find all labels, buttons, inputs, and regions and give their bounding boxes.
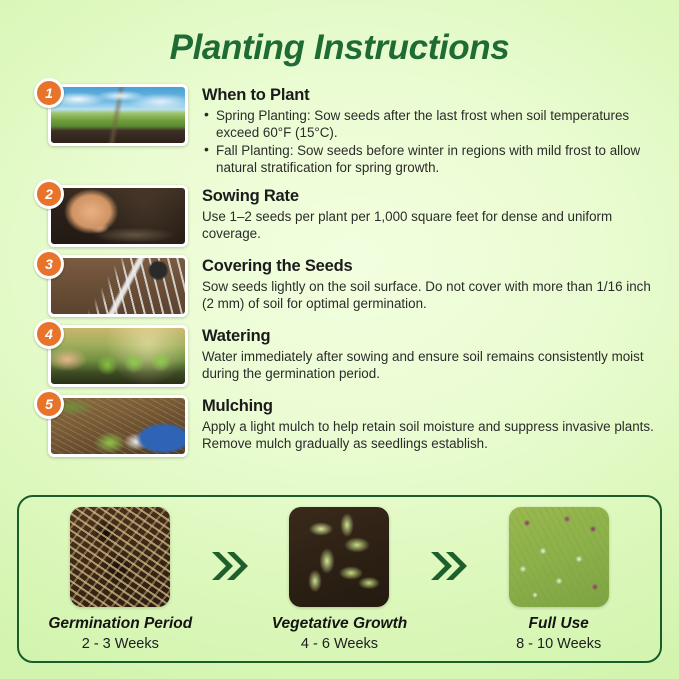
mulching-seedling-photo — [48, 395, 188, 457]
timeline-stage-1-weeks: 2 - 3 Weeks — [82, 636, 159, 652]
step-2-text: Use 1–2 seeds per plant per 1,000 square… — [202, 208, 659, 242]
step-5-text: Apply a light mulch to help retain soil … — [202, 418, 659, 452]
timeline-stage-3-weeks: 8 - 10 Weeks — [516, 636, 601, 652]
step-3-thumb-wrap: 3 — [34, 255, 190, 317]
step-number-badge-2: 2 — [34, 179, 64, 209]
double-chevron-right-icon — [209, 549, 251, 583]
step-number-badge-1: 1 — [34, 78, 64, 108]
timeline-stage-1-label: Germination Period — [48, 615, 192, 633]
step-item-4: 4 Watering Water immediately after sowin… — [34, 325, 659, 387]
watering-seedlings-photo — [48, 325, 188, 387]
step-5-body: Mulching Apply a light mulch to help ret… — [190, 395, 659, 452]
field-rows-photo — [48, 84, 188, 146]
step-4-thumb-wrap: 4 — [34, 325, 190, 387]
step-1-body: When to Plant Spring Planting: Sow seeds… — [190, 84, 659, 177]
page-title: Planting Instructions — [0, 0, 679, 68]
step-number-badge-5: 5 — [34, 389, 64, 419]
steps-list: 1 When to Plant Spring Planting: Sow see… — [0, 84, 679, 457]
step-5-thumb-wrap: 5 — [34, 395, 190, 457]
list-item: Spring Planting: Sow seeds after the las… — [202, 107, 659, 141]
step-2-thumb-wrap: 2 — [34, 185, 190, 247]
timeline-stage-3: Full Use 8 - 10 Weeks — [477, 507, 641, 652]
flowering-field-photo — [509, 507, 609, 607]
step-item-2: 2 Sowing Rate Use 1–2 seeds per plant pe… — [34, 185, 659, 247]
step-1-bullets: Spring Planting: Sow seeds after the las… — [202, 107, 659, 176]
timeline-stage-3-label: Full Use — [529, 615, 589, 633]
step-4-text: Water immediately after sowing and ensur… — [202, 348, 659, 382]
step-4-heading: Watering — [202, 327, 659, 346]
timeline-stage-2: Vegetative Growth 4 - 6 Weeks — [257, 507, 421, 652]
growth-timeline: Germination Period 2 - 3 Weeks Vegetativ… — [17, 495, 662, 663]
infographic-root: Planting Instructions 1 When to Plant Sp… — [0, 0, 679, 457]
step-2-body: Sowing Rate Use 1–2 seeds per plant per … — [190, 185, 659, 242]
step-number-badge-3: 3 — [34, 249, 64, 279]
step-3-text: Sow seeds lightly on the soil surface. D… — [202, 278, 659, 312]
step-3-heading: Covering the Seeds — [202, 257, 659, 276]
step-2-heading: Sowing Rate — [202, 187, 659, 206]
step-3-body: Covering the Seeds Sow seeds lightly on … — [190, 255, 659, 312]
step-1-heading: When to Plant — [202, 86, 659, 105]
timeline-stage-2-weeks: 4 - 6 Weeks — [301, 636, 378, 652]
step-4-body: Watering Water immediately after sowing … — [190, 325, 659, 382]
rake-on-soil-photo — [48, 255, 188, 317]
step-item-5: 5 Mulching Apply a light mulch to help r… — [34, 395, 659, 457]
germinating-seeds-photo — [70, 507, 170, 607]
hand-sowing-seeds-photo — [48, 185, 188, 247]
step-number-badge-4: 4 — [34, 319, 64, 349]
young-seedlings-photo — [289, 507, 389, 607]
double-chevron-right-icon — [428, 549, 470, 583]
step-item-3: 3 Covering the Seeds Sow seeds lightly o… — [34, 255, 659, 317]
timeline-stage-2-label: Vegetative Growth — [272, 615, 408, 633]
list-item: Fall Planting: Sow seeds before winter i… — [202, 142, 659, 176]
step-1-thumb-wrap: 1 — [34, 84, 190, 146]
step-5-heading: Mulching — [202, 397, 659, 416]
step-item-1: 1 When to Plant Spring Planting: Sow see… — [34, 84, 659, 177]
timeline-stage-1: Germination Period 2 - 3 Weeks — [38, 507, 202, 652]
